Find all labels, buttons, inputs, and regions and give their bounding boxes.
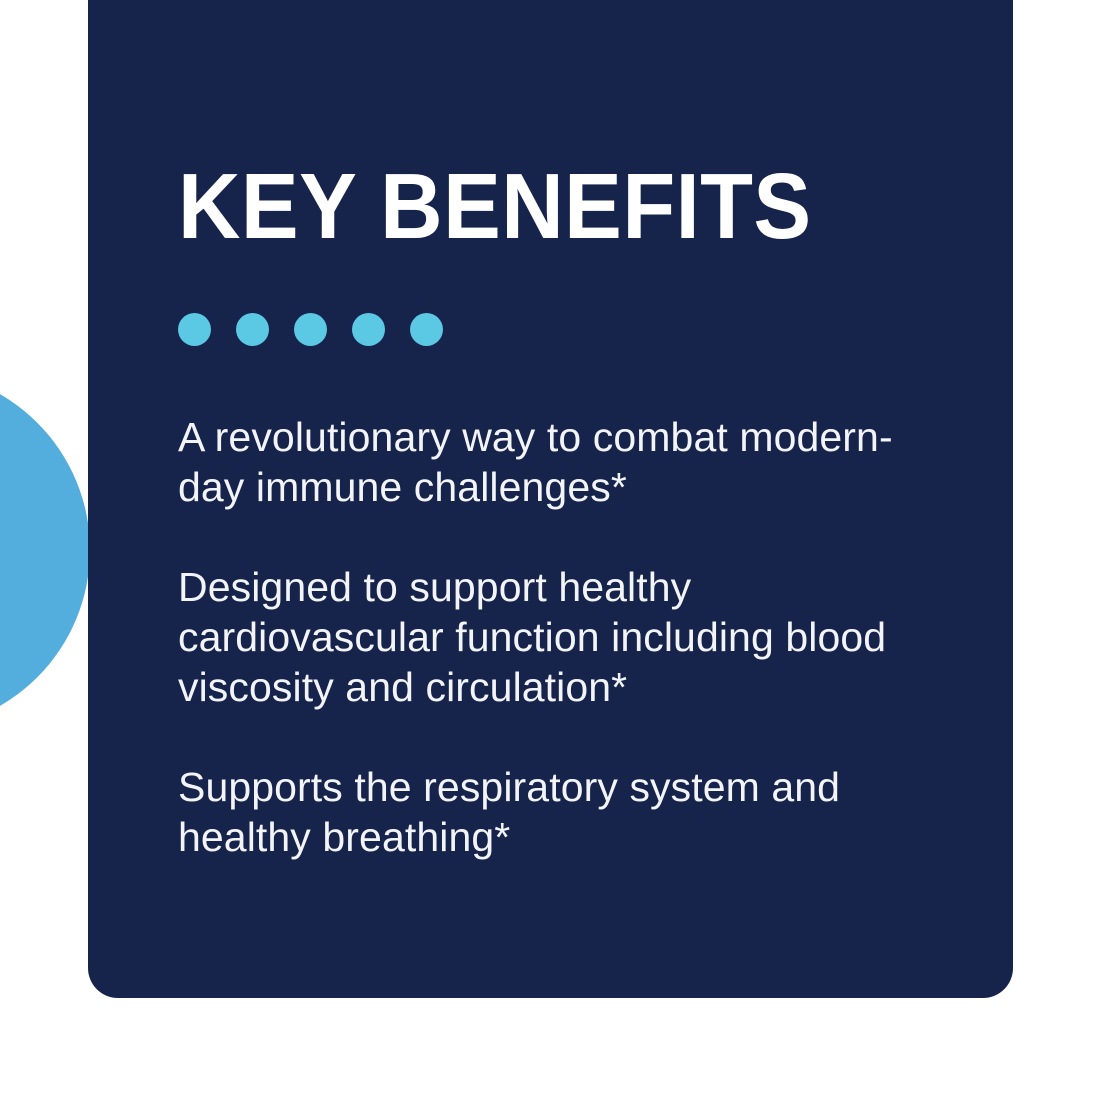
benefit-list: A revolutionary way to combat modern-day… <box>178 412 948 862</box>
card-content: KEY BENEFITS A revolutionary way to comb… <box>178 0 1013 998</box>
divider-dot-4 <box>352 313 385 346</box>
benefits-graphic: KEY BENEFITS A revolutionary way to comb… <box>0 0 1100 1100</box>
key-benefits-card: KEY BENEFITS A revolutionary way to comb… <box>88 0 1013 998</box>
list-item: A revolutionary way to combat modern-day… <box>178 412 948 512</box>
divider-dot-5 <box>410 313 443 346</box>
dot-divider <box>178 313 443 346</box>
divider-dot-2 <box>236 313 269 346</box>
divider-dot-1 <box>178 313 211 346</box>
list-item: Designed to support healthy cardiovascul… <box>178 562 948 712</box>
list-item: Supports the respiratory system and heal… <box>178 762 948 862</box>
divider-dot-3 <box>294 313 327 346</box>
accent-circle-decoration <box>0 370 90 730</box>
page-title: KEY BENEFITS <box>178 160 812 253</box>
